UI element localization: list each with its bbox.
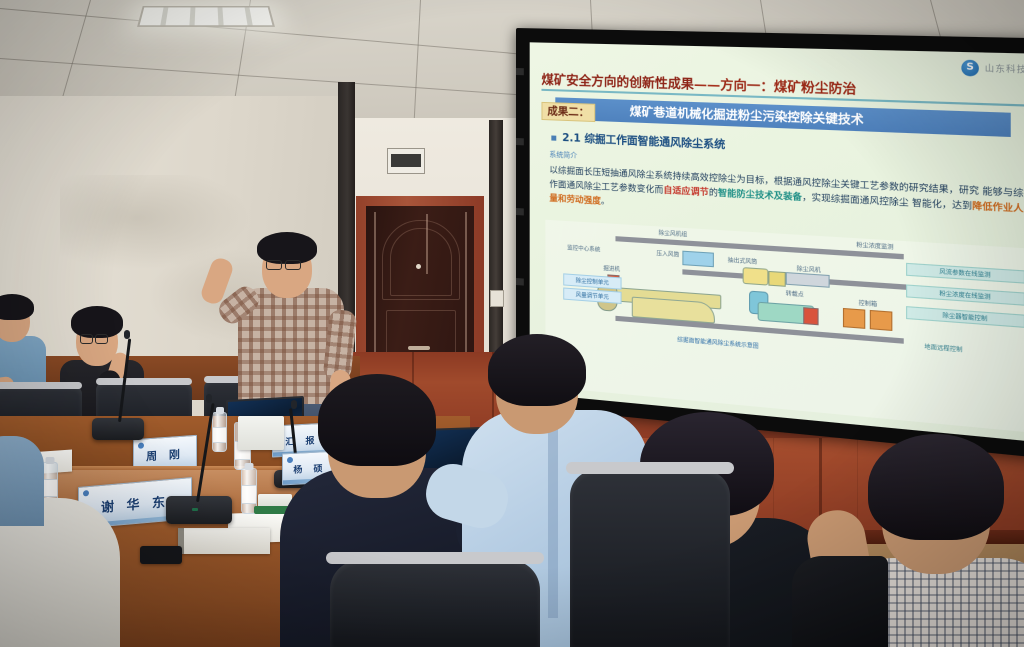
diagram-inner-label-5: 转载点 bbox=[786, 289, 804, 299]
chair-foreground-2[interactable] bbox=[330, 560, 540, 647]
ceiling-light-panel bbox=[137, 6, 275, 27]
hair bbox=[0, 294, 34, 320]
diagram-right-tag-1: 风流参数在线监测 bbox=[906, 263, 1024, 284]
logo-mark-icon: S bbox=[961, 60, 979, 77]
nameplate-text: 周 刚 bbox=[146, 446, 184, 465]
microphone-head-2 bbox=[206, 394, 212, 403]
diagram-inner-label-2: 抽出式风筒 bbox=[728, 256, 757, 266]
water-bottle-4[interactable] bbox=[212, 412, 227, 452]
diagram-left-label: 监控中心系统 bbox=[567, 243, 600, 253]
eyeglasses-icon bbox=[266, 260, 310, 270]
hair bbox=[318, 374, 436, 466]
slide-banner-text: 煤矿巷道机械化掘进粉尘污染控除关键技术 bbox=[630, 103, 864, 128]
shirt-placket bbox=[548, 418, 558, 618]
diagram-inner-label-1: 压入风筒 bbox=[656, 249, 679, 259]
phone-on-table[interactable] bbox=[140, 546, 182, 564]
diagram-top-label-2: 粉尘浓度监测 bbox=[856, 240, 893, 251]
slide-title-direction-value: 煤矿粉尘防治 bbox=[774, 78, 857, 96]
wall-sign bbox=[387, 148, 425, 174]
chair-rim-1 bbox=[0, 382, 82, 389]
tissue-box[interactable] bbox=[238, 416, 284, 450]
diagram-right-tag-3: 除尘器智能控制 bbox=[906, 306, 1024, 328]
person-right-sleeve bbox=[792, 556, 888, 647]
chair-rim-foreground-1 bbox=[566, 462, 734, 474]
door-peephole bbox=[416, 264, 421, 269]
university-name: 山东科技大学 bbox=[985, 62, 1024, 76]
slide-body-line-2e: ，实现综掘面通风控除尘 bbox=[802, 193, 909, 209]
slide-body-emph-adaptive: 自适应调节 bbox=[663, 186, 708, 199]
square-bullet-icon bbox=[551, 135, 556, 140]
slide-body-emph-tech: 智能防尘技术及装备 bbox=[718, 188, 802, 203]
slide-body-line-3a: 智能化，达到 bbox=[912, 198, 972, 212]
slide-title-dash: —— bbox=[694, 76, 720, 92]
diagram-right-tag-2: 粉尘浓度在线监测 bbox=[906, 284, 1024, 305]
slide-result-chip: 成果二： bbox=[541, 102, 595, 122]
university-logo: S 山东科技大学 bbox=[961, 60, 1024, 79]
chair-rim-foreground-2 bbox=[326, 552, 544, 564]
slide-heading-3: 系统简介 bbox=[549, 149, 577, 160]
door-handle[interactable] bbox=[408, 346, 430, 350]
slide-body-line-3c: 。 bbox=[601, 197, 610, 208]
diagram-inner-label-4: 掘进机 bbox=[603, 264, 620, 273]
person-left-shoulder-blue bbox=[0, 436, 44, 526]
meeting-room-photo: S 山东科技大学 煤矿安全方向的创新性成果——方向一：煤矿粉尘防治 煤矿巷道机械… bbox=[0, 0, 1024, 647]
diagram-inner-label-6: 控制箱 bbox=[859, 298, 878, 308]
hair bbox=[488, 334, 586, 406]
diagram-right-note: 地面远程控制 bbox=[924, 342, 962, 354]
slide-heading-2: 2.1 综掘工作面智能通风除尘系统 bbox=[551, 129, 725, 152]
slide-heading-2-text: 2.1 综掘工作面智能通风除尘系统 bbox=[562, 132, 725, 151]
nameplate-text: 谢 华 东 bbox=[101, 491, 169, 516]
slide-body-line-2c: 的 bbox=[709, 188, 718, 199]
chair-rim-2 bbox=[96, 378, 192, 385]
slide-title-direction-label: 方向一： bbox=[720, 77, 774, 94]
notebook-1[interactable] bbox=[178, 528, 270, 554]
light-switch[interactable] bbox=[490, 290, 504, 307]
chair-foreground-1[interactable] bbox=[570, 470, 730, 647]
diagram-top-label-1: 除尘风机组 bbox=[658, 229, 687, 239]
microphone-head-1 bbox=[124, 330, 130, 339]
diagram-caption: 综掘面智能通风除尘系统示意图 bbox=[677, 335, 759, 350]
eyeglasses-icon bbox=[80, 334, 118, 344]
hair bbox=[868, 434, 1004, 540]
